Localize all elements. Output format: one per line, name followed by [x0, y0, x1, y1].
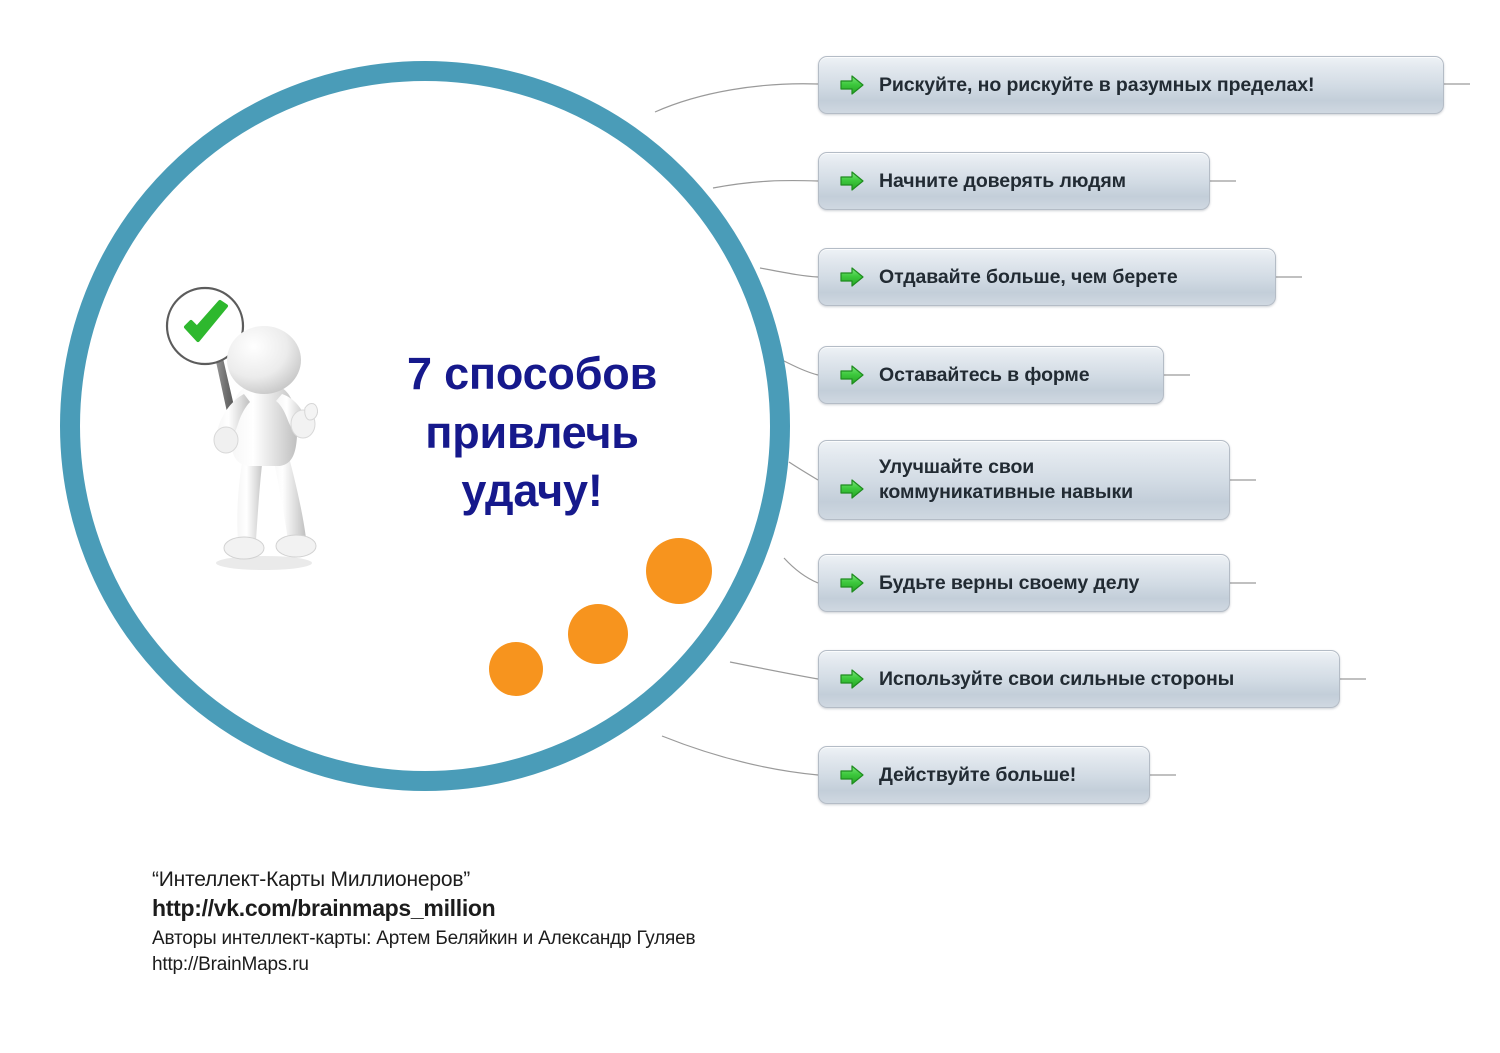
green-arrow-icon: [839, 478, 865, 500]
footer-quote: “Интеллект-Карты Миллионеров”: [152, 866, 695, 893]
footer-credits: “Интеллект-Карты Миллионеров” http://vk.…: [152, 866, 695, 977]
footer-authors: Авторы интеллект-карты: Артем Беляйкин и…: [152, 926, 695, 951]
branch-box-4[interactable]: Оставайтесь в форме: [818, 346, 1164, 404]
branch-box-7[interactable]: Используйте свои сильные стороны: [818, 650, 1340, 708]
figure-shadow: [216, 556, 312, 570]
orange-dot-large: [646, 538, 712, 604]
green-arrow-icon: [839, 764, 865, 786]
branch-box-1[interactable]: Рискуйте, но рискуйте в разумных предела…: [818, 56, 1444, 114]
footer-vk-link[interactable]: http://vk.com/brainmaps_million: [152, 894, 695, 923]
footer-site-link[interactable]: http://BrainMaps.ru: [152, 952, 695, 977]
green-arrow-icon: [839, 572, 865, 594]
branch-label: Будьте верны своему делу: [879, 571, 1139, 596]
connector-2: [713, 181, 818, 188]
branch-box-6[interactable]: Будьте верны своему делу: [818, 554, 1230, 612]
connector-6: [784, 558, 818, 583]
figure-foot-right: [276, 535, 316, 557]
person-with-checkmark-illustration: [160, 282, 360, 574]
branch-label: Действуйте больше!: [879, 763, 1076, 788]
branch-label: Улучшайте свои коммуникативные навыки: [879, 455, 1133, 505]
page-title: 7 способов привлечь удачу!: [362, 345, 702, 521]
branch-label: Оставайтесь в форме: [879, 363, 1090, 388]
figure-foot-left: [224, 537, 264, 559]
infographic-canvas: 7 способов привлечь удачу! Рискуйте, но …: [0, 0, 1500, 1053]
connector-8: [662, 736, 818, 775]
title-line-1: 7 способов: [362, 345, 702, 404]
title-line-3: удачу!: [362, 462, 702, 521]
connector-4: [782, 360, 818, 375]
green-arrow-icon: [839, 170, 865, 192]
branch-label: Начните доверять людям: [879, 169, 1126, 194]
branch-label: Отдавайте больше, чем берете: [879, 265, 1178, 290]
title-line-2: привлечь: [362, 404, 702, 463]
green-arrow-icon: [839, 364, 865, 386]
connector-3: [760, 268, 818, 277]
green-arrow-icon: [839, 74, 865, 96]
orange-dot-medium: [568, 604, 628, 664]
connector-5: [789, 462, 818, 480]
green-arrow-icon: [839, 668, 865, 690]
branch-box-5[interactable]: Улучшайте свои коммуникативные навыки: [818, 440, 1230, 520]
branch-box-3[interactable]: Отдавайте больше, чем берете: [818, 248, 1276, 306]
figure-hand-left: [214, 427, 238, 453]
figure-thumb: [305, 404, 318, 421]
branch-box-8[interactable]: Действуйте больше!: [818, 746, 1150, 804]
orange-dot-small: [489, 642, 543, 696]
branch-label: Используйте свои сильные стороны: [879, 667, 1234, 692]
branch-box-2[interactable]: Начните доверять людям: [818, 152, 1210, 210]
green-arrow-icon: [839, 266, 865, 288]
branch-label: Рискуйте, но рискуйте в разумных предела…: [879, 73, 1314, 98]
figure-head: [227, 326, 301, 394]
connector-7: [730, 662, 818, 679]
orange-dots: [489, 538, 712, 696]
connector-1: [655, 84, 818, 112]
